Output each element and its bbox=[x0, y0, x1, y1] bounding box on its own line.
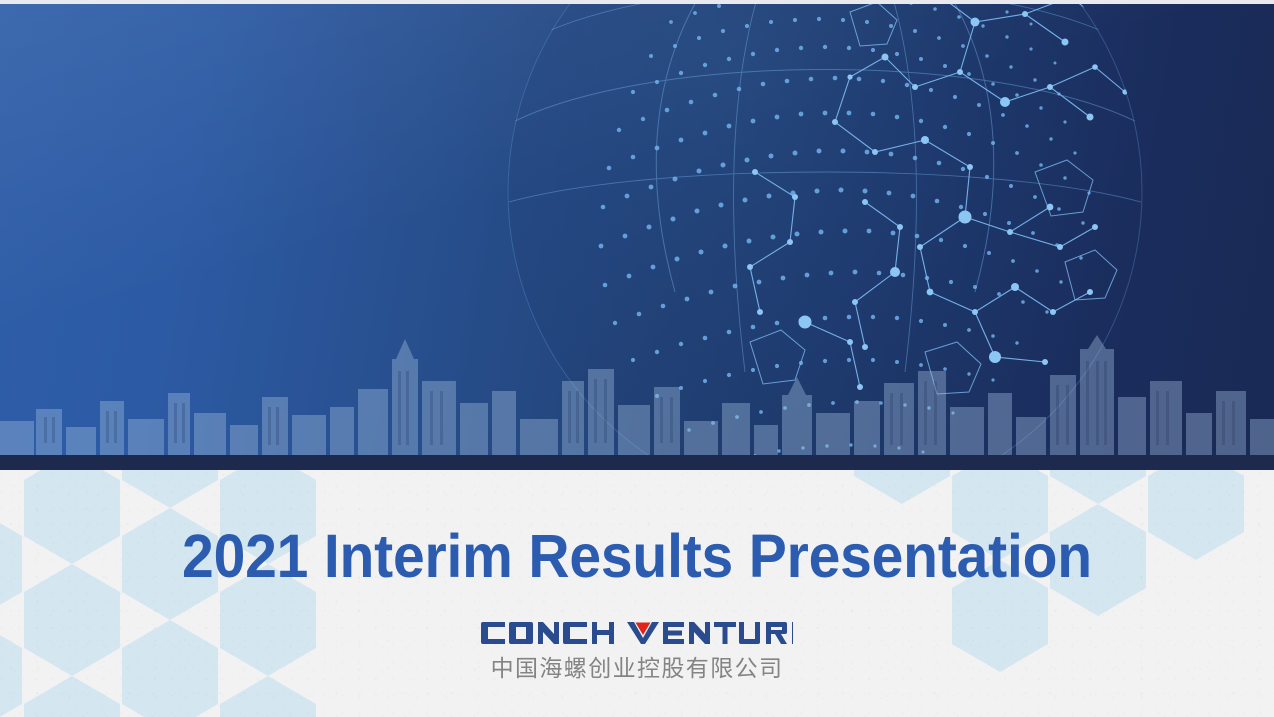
hero-banner bbox=[0, 4, 1274, 455]
top-edge-strip bbox=[0, 0, 1274, 4]
conch-venture-wordmark bbox=[481, 618, 793, 648]
company-chinese-name: 中国海螺创业控股有限公司 bbox=[491, 649, 784, 683]
city-skyline-silhouette bbox=[0, 335, 1274, 455]
banner-divider-bar bbox=[0, 455, 1274, 470]
page-title: 2021 Interim Results Presentation bbox=[41, 521, 1232, 591]
title-slide: 2021 Interim Results Presentation bbox=[0, 0, 1274, 717]
company-logo: 中国海螺创业控股有限公司 bbox=[0, 618, 1274, 683]
